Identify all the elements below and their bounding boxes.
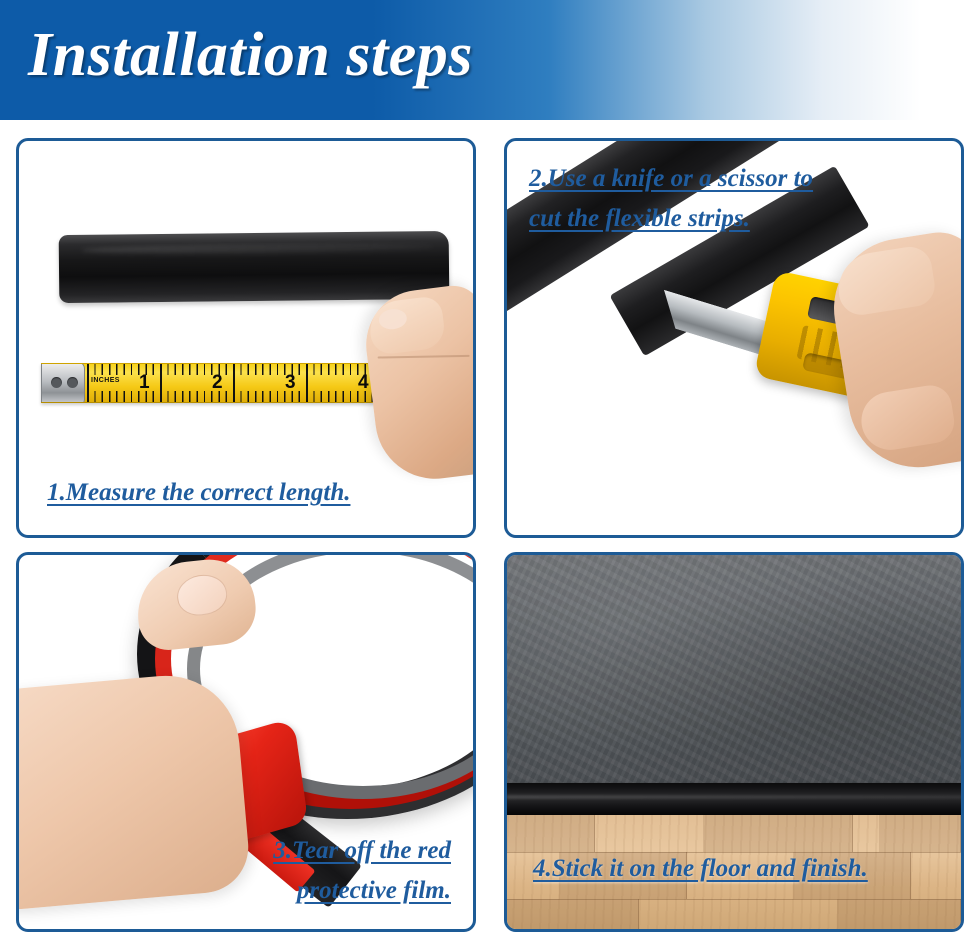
step-3-caption-line-2: protective film. [273, 871, 451, 911]
tape-number-4: 4 [358, 373, 369, 392]
hand-holding-tape [360, 282, 473, 485]
black-trim-strip [59, 231, 450, 303]
floor-plank [507, 815, 595, 853]
step-3-caption-line-1: 3.Tear off the red [273, 831, 451, 871]
floor-plank [837, 899, 961, 929]
step-panel-1: INCHES 1 2 3 4 5 1.Measure the correct l… [16, 138, 476, 538]
floor-plank [703, 815, 853, 853]
hand-peeling-film [19, 670, 252, 913]
tape-number-1: 1 [139, 373, 150, 392]
step-1-caption-line-1: 1.Measure the correct length. [47, 473, 350, 513]
tape-measure-hook-icon [41, 363, 85, 403]
hand-holding-knife [824, 227, 961, 478]
page-title: Installation steps [28, 18, 473, 92]
step-3-caption: 3.Tear off the red protective film. [273, 831, 451, 911]
header-banner: Installation steps [0, 0, 980, 120]
steps-grid: INCHES 1 2 3 4 5 1.Measure the correct l… [16, 138, 964, 932]
step-1-caption: 1.Measure the correct length. [47, 473, 350, 513]
hand-crease [378, 355, 470, 359]
tape-unit-label: INCHES [91, 377, 120, 384]
step-4-caption: 4.Stick it on the floor and finish. [533, 849, 868, 889]
step-panel-3: 3.Tear off the red protective film. [16, 552, 476, 932]
installed-black-trim [507, 783, 961, 814]
tape-number-2: 2 [212, 373, 223, 392]
step-panel-4: 4.Stick it on the floor and finish. [504, 552, 964, 932]
tape-number-3: 3 [285, 373, 296, 392]
grey-wall-surface [507, 555, 961, 783]
floor-plank [879, 815, 961, 853]
floor-plank [507, 899, 639, 929]
step-2-caption: 2.Use a knife or a scissor to cut the fl… [529, 159, 813, 239]
step-4-caption-line-1: 4.Stick it on the floor and finish. [533, 849, 868, 889]
step-2-caption-line-1: 2.Use a knife or a scissor to [529, 159, 813, 199]
step-2-caption-line-2: cut the flexible strips. [529, 199, 813, 239]
step-panel-2: 2.Use a knife or a scissor to cut the fl… [504, 138, 964, 538]
